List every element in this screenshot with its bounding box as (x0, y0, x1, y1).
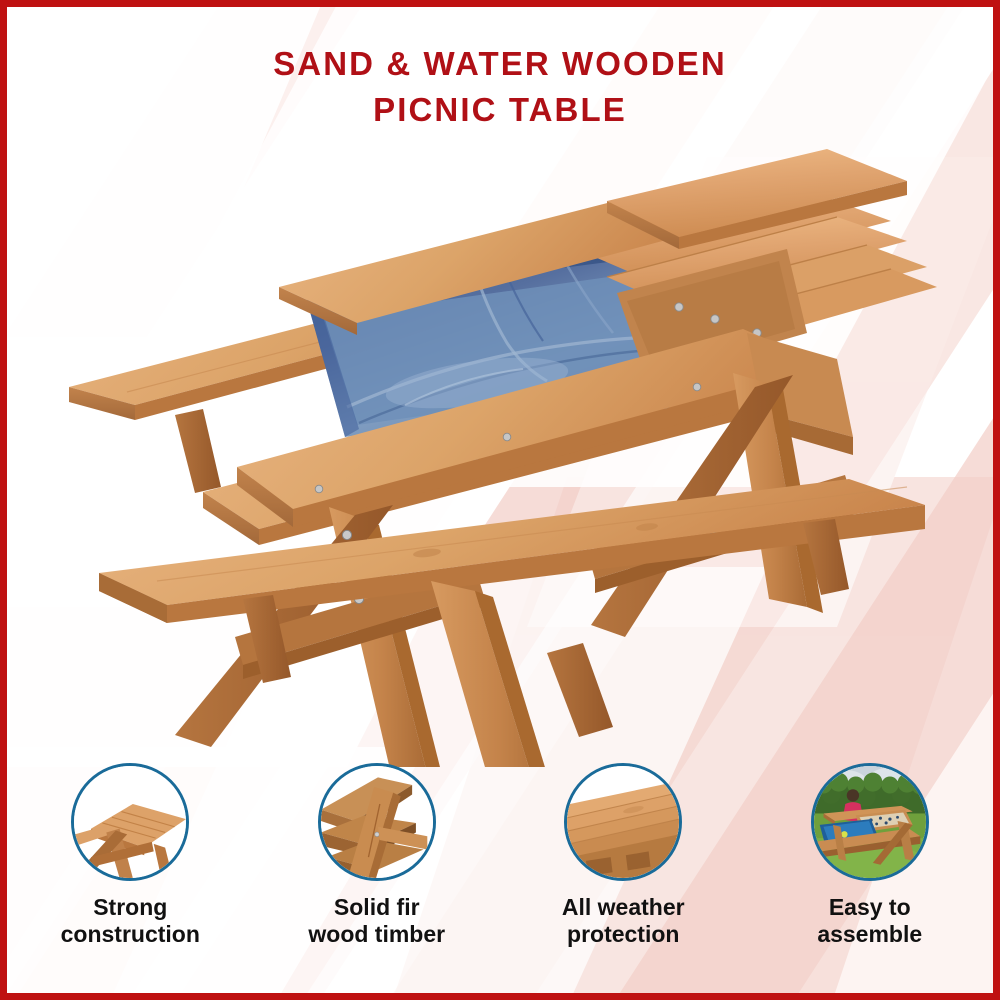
feature-label: Easy to assemble (817, 894, 922, 948)
feature-label-line-1: All weather (562, 894, 685, 920)
product-poster: SAND & WATER WOODEN PICNIC TABLE (0, 0, 1000, 1000)
feature-label: All weather protection (562, 894, 685, 948)
feature-label-line-1: Solid fir (334, 894, 420, 920)
picnic-table-illustration (7, 137, 993, 767)
feature-label-line-2: protection (567, 921, 679, 947)
picnic-table-frame-icon (71, 763, 189, 881)
page-title: SAND & WATER WOODEN PICNIC TABLE (7, 41, 993, 133)
title-line-2: PICNIC TABLE (7, 87, 993, 133)
fir-timber-planks-icon (318, 763, 436, 881)
feature-solid-fir-wood-timber: Solid fir wood timber (254, 763, 501, 975)
poster-inner: SAND & WATER WOODEN PICNIC TABLE (7, 7, 993, 993)
feature-all-weather-protection: All weather protection (500, 763, 747, 975)
feature-easy-to-assemble: Easy to assemble (747, 763, 994, 975)
feature-label: Strong construction (61, 894, 200, 948)
feature-label: Solid fir wood timber (308, 894, 445, 948)
front-leg-right (547, 643, 613, 737)
feature-label-line-2: wood timber (308, 921, 445, 947)
feature-strong-construction: Strong construction (7, 763, 254, 975)
feature-label-line-2: assemble (817, 921, 922, 947)
feature-row: Strong construction (7, 763, 993, 975)
feature-label-line-1: Strong (93, 894, 167, 920)
feature-label-line-2: construction (61, 921, 200, 947)
front-leg-left (431, 581, 573, 767)
child-playing-in-garden-icon (811, 763, 929, 881)
weatherproof-tabletop-icon (564, 763, 682, 881)
feature-label-line-1: Easy to (829, 894, 911, 920)
title-line-1: SAND & WATER WOODEN (7, 41, 993, 87)
hero-product-image (7, 137, 993, 767)
